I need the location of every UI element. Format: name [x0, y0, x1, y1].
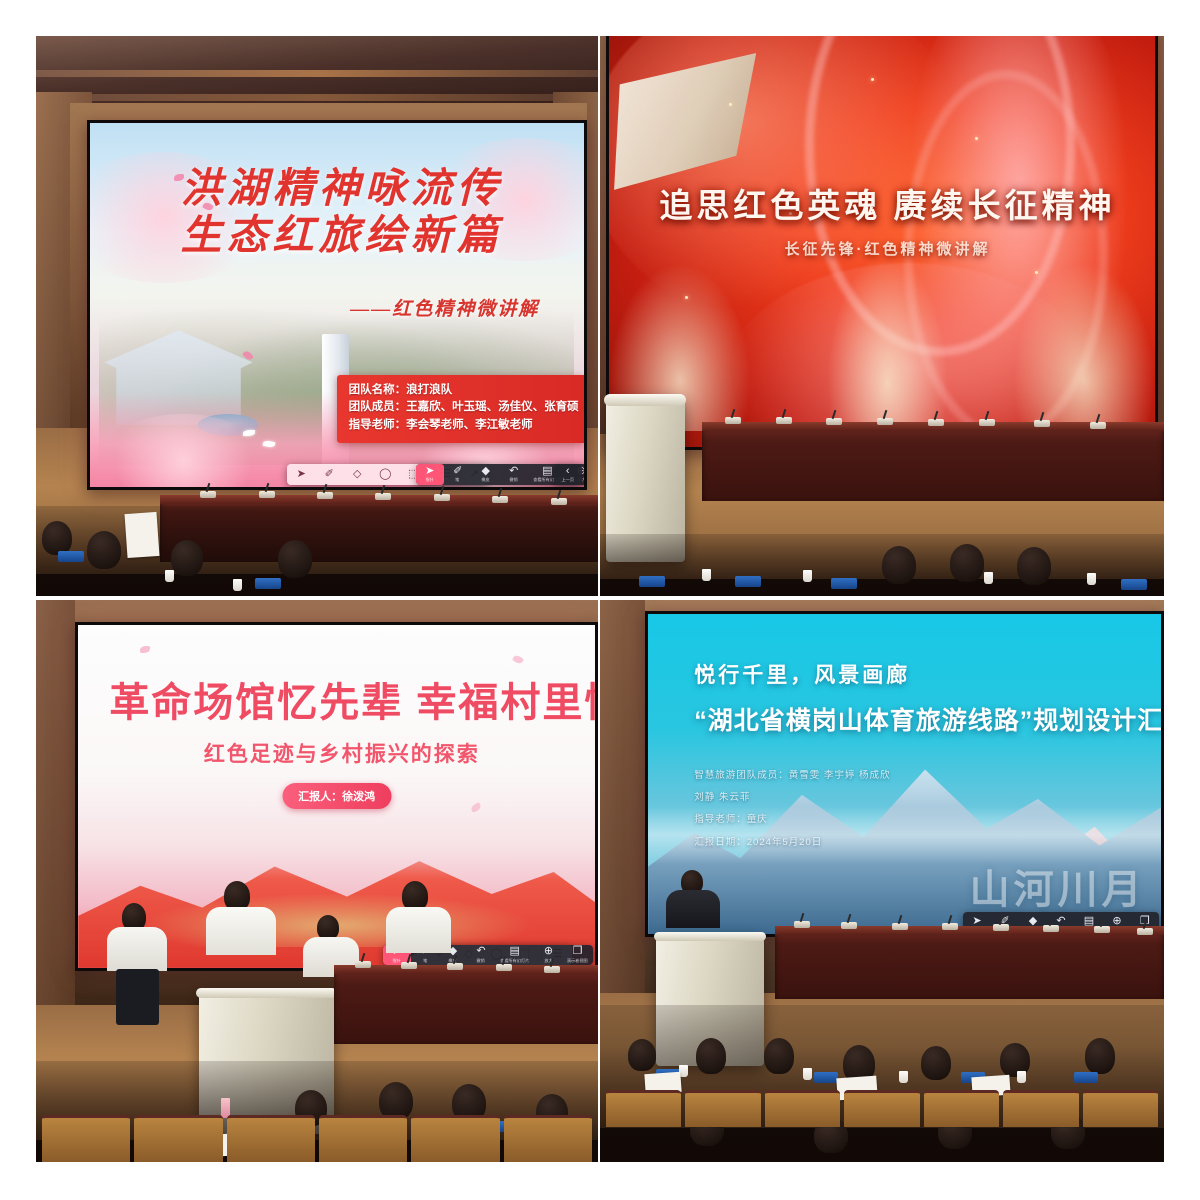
audience-area — [600, 1005, 1164, 1162]
nameplate — [1121, 579, 1147, 590]
presenter-badge: 汇报人：徐泼鸿 — [282, 783, 391, 809]
slide-title: 革命场馆忆先辈 幸福村里悟幸福 — [109, 670, 595, 728]
meta-team-members: 智慧旅游团队成员：黄雪雯 李宇婷 杨成欣 — [694, 765, 890, 787]
seat — [319, 1115, 407, 1162]
seat — [504, 1115, 592, 1162]
slides-icon[interactable]: ▤ 查看所有幻灯片 — [495, 945, 535, 965]
team-name-line: 团队名称：浪打浪队 — [349, 382, 574, 400]
seat — [1003, 1090, 1078, 1127]
meta-date: 汇报日期：2024年5月20日 — [694, 832, 890, 854]
nameplate — [255, 578, 281, 589]
audience-head — [921, 1046, 951, 1080]
figures-right — [1013, 263, 1155, 431]
seat — [42, 1115, 130, 1162]
audience-head — [1085, 1038, 1115, 1074]
slide-content: 追思红色英魂 赓续长征精神 长征先锋·红色精神微讲解 — [609, 36, 1156, 447]
audience-area — [36, 1061, 598, 1162]
audience-head — [628, 1039, 656, 1071]
seat — [606, 1090, 681, 1127]
slide-meta: 智慧旅游团队成员：黄雪雯 李宇婷 杨成欣 刘静 朱云菲 指导老师：童庆 汇报日期… — [694, 765, 890, 854]
fullscreen-icon[interactable]: ❐ 演示者视图 — [562, 945, 593, 965]
advisors-line: 指导老师：李会琴老师、李江敏老师 — [349, 417, 574, 435]
audience-head — [379, 1082, 413, 1120]
team-members-line: 团队成员：王嘉欣、叶玉瑶、汤佳仪、张育硕 — [349, 399, 574, 417]
team-info-box: 团队名称：浪打浪队 团队成员：王嘉欣、叶玉瑶、汤佳仪、张育硕 指导老师：李会琴老… — [337, 375, 584, 443]
undo-icon[interactable]: ↶ 撤销 — [467, 945, 495, 965]
seat — [227, 1115, 315, 1162]
prev-icon[interactable]: ‹ 上一页 — [554, 464, 582, 485]
led-screen: 洪湖精神咏流传 生态红旅绘新篇 ——红色精神微讲解 团队名称：浪打浪队 团队成员… — [87, 120, 587, 490]
audience-head — [950, 544, 984, 582]
audience-area — [36, 506, 598, 596]
seat — [765, 1090, 840, 1127]
audience-head — [278, 540, 312, 578]
cursor-icon[interactable]: ➤ — [287, 464, 315, 485]
audience-head — [171, 540, 203, 576]
seat — [1083, 1090, 1158, 1127]
judges-desk — [702, 422, 1164, 500]
nameplate — [58, 551, 84, 562]
audience-head — [696, 1038, 726, 1074]
seat — [924, 1090, 999, 1127]
audience-head — [42, 521, 72, 555]
nameplate — [814, 1072, 838, 1083]
highlighter-icon[interactable]: ◇ — [343, 464, 371, 485]
figures-center — [827, 254, 947, 439]
seat — [844, 1090, 919, 1127]
pen-icon[interactable]: ✐ 笔 — [444, 464, 472, 485]
slide-content: 悦行千里，风景画廊 “湖北省横岗山体育旅游线路”规划设计汇报 智慧旅游团队成员：… — [648, 614, 1161, 934]
seat — [685, 1090, 760, 1127]
judges-desk — [334, 965, 598, 1044]
eraser-icon[interactable]: ◆ 橡皮 — [472, 464, 500, 485]
slide-subtitle: 红色足迹与乡村振兴的探索 — [109, 738, 574, 768]
pointer-icon[interactable]: ➤ 指针 — [416, 464, 444, 485]
audience-area — [600, 534, 1164, 596]
slide-title-line2: 生态红旅绘新篇 — [129, 214, 554, 257]
slide-subtitle: ——红色精神微讲解 — [350, 294, 539, 321]
ppt-toolbar-nav[interactable]: ‹ 上一页 — [554, 464, 582, 485]
presenter — [103, 903, 170, 1083]
slide-content: 洪湖精神咏流传 生态红旅绘新篇 ——红色精神微讲解 团队名称：浪打浪队 团队成员… — [90, 123, 584, 487]
panel-bottom-left[interactable]: 革命场馆忆先辈 幸福村里悟幸福 红色足迹与乡村振兴的探索 汇报人：徐泼鸿 ➤ ✐… — [36, 600, 598, 1162]
meta-team-members-2: 刘静 朱云菲 — [694, 787, 890, 809]
audience-head — [764, 1038, 794, 1074]
pen-icon[interactable]: ✐ — [315, 464, 343, 485]
slide-title-line2: “湖北省横岗山体育旅游线路”规划设计汇报 — [694, 701, 1150, 737]
judges-desk — [775, 926, 1164, 999]
nameplate — [735, 576, 761, 587]
slide-subtitle: 长征先锋·红色精神微讲解 — [641, 238, 1133, 259]
audience-head — [87, 531, 121, 569]
slide-title: 追思红色英魂 赓续长征精神 — [641, 179, 1133, 227]
nameplate — [831, 578, 857, 589]
slide-title: 洪湖精神咏流传 生态红旅绘新篇 — [129, 167, 554, 258]
led-screen: 追思红色英魂 赓续长征精神 长征先锋·红色精神微讲解 ○ ✐ ▣ ✐ ▤ ✎ ⋯ — [606, 36, 1159, 450]
watermark-text: 山河川月 — [970, 857, 1146, 915]
photo-collage: 洪湖精神咏流传 生态红旅绘新篇 ——红色精神微讲解 团队名称：浪打浪队 团队成员… — [0, 0, 1200, 1200]
eraser-icon[interactable]: ◯ — [371, 464, 399, 485]
zoom-icon[interactable]: ⊕ 放大 — [534, 945, 562, 965]
handout-paper — [124, 512, 159, 558]
seat — [411, 1115, 499, 1162]
slide-title-line1: 洪湖精神咏流传 — [129, 167, 554, 210]
audience-head — [882, 546, 916, 584]
nameplate — [1074, 1072, 1098, 1083]
nameplate — [639, 576, 665, 587]
seat — [134, 1115, 222, 1162]
audience-head — [1017, 547, 1051, 585]
panel-top-left[interactable]: 洪湖精神咏流传 生态红旅绘新篇 ——红色精神微讲解 团队名称：浪打浪队 团队成员… — [36, 36, 598, 596]
panel-top-right[interactable]: 追思红色英魂 赓续长征精神 长征先锋·红色精神微讲解 ○ ✐ ▣ ✐ ▤ ✎ ⋯ — [600, 36, 1164, 596]
panel-bottom-right[interactable]: 悦行千里，风景画廊 “湖北省横岗山体育旅游线路”规划设计汇报 智慧旅游团队成员：… — [600, 600, 1164, 1162]
meta-advisor: 指导老师：童庆 — [694, 809, 890, 831]
slide-title-line1: 悦行千里，风景画廊 — [694, 659, 910, 689]
undo-icon[interactable]: ↶ 撤销 — [500, 464, 528, 485]
